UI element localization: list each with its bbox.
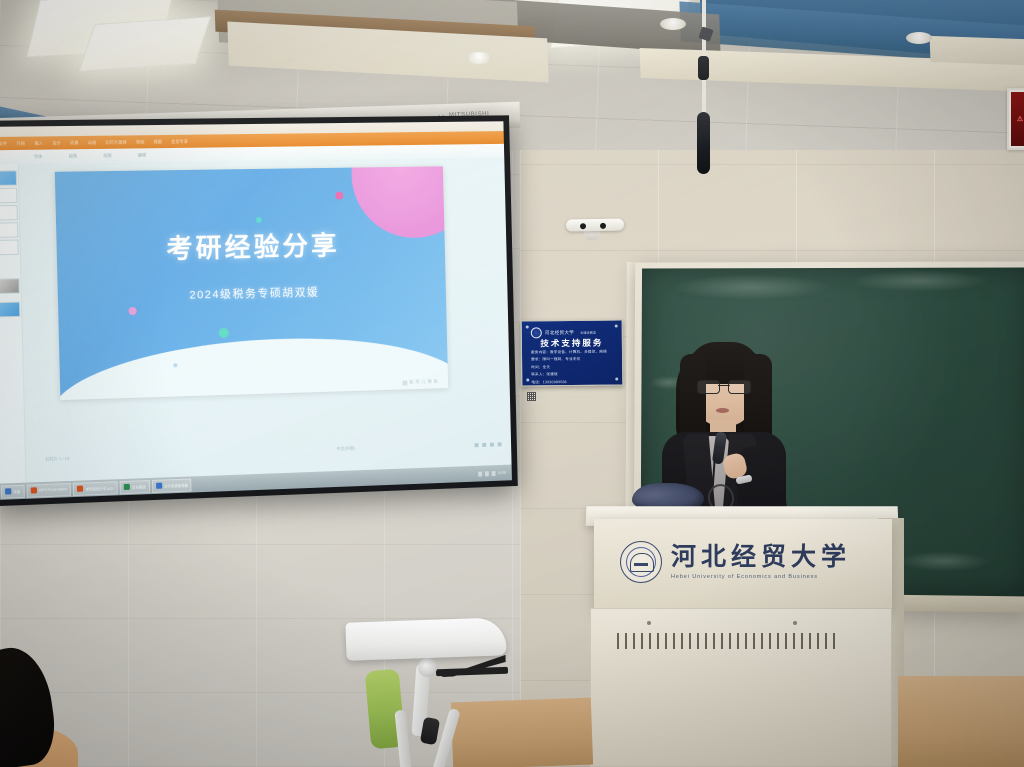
cabinet-vent-slots bbox=[617, 633, 835, 649]
ribbon-item[interactable]: 视图 bbox=[154, 139, 163, 145]
classroom-photo-scene: MITSUBISHI 文件 开始 插入 设计 切换 动画 幻灯片放映 审阅 视图… bbox=[0, 0, 1024, 767]
slideshow-icon[interactable] bbox=[498, 442, 502, 446]
tablet-arm-chair bbox=[336, 612, 522, 767]
ribbon-item[interactable]: 动画 bbox=[88, 139, 97, 145]
dual-lens-camera-icon bbox=[566, 218, 624, 231]
slide-thumbnail-pane[interactable] bbox=[0, 164, 27, 483]
chair-tablet-bracket-bar bbox=[436, 667, 508, 677]
taskbar-item[interactable]: 企业微信 bbox=[120, 480, 150, 494]
chair-leg bbox=[394, 710, 412, 767]
battery-icon[interactable] bbox=[491, 471, 495, 476]
taskbar-label: 开始 bbox=[13, 488, 20, 493]
ribbon-item[interactable]: 插入 bbox=[34, 140, 43, 146]
cabinet-screw bbox=[793, 621, 797, 625]
wooden-desk-edge bbox=[898, 676, 1024, 767]
sign-department: 全媒体教室 bbox=[580, 330, 596, 335]
subbar-item[interactable]: 编辑 bbox=[138, 152, 146, 158]
taskbar-label: 文件资源管理器 bbox=[164, 482, 188, 488]
current-slide[interactable]: 考研经验分享 2024级税务专硕胡双媛 稻 壳 儿 模 板 bbox=[55, 166, 448, 400]
podium-front-panel: 河北经贸大学 Hebei University of Economics and… bbox=[594, 519, 892, 611]
watermark-logo-icon bbox=[403, 380, 408, 385]
app-body: 考研经验分享 2024级税务专硕胡双媛 稻 壳 儿 模 板 幻灯片 1 / 18… bbox=[0, 158, 512, 484]
sign-screw bbox=[526, 378, 529, 381]
ceiling-speaker-icon bbox=[660, 18, 686, 30]
status-view-controls[interactable] bbox=[475, 442, 502, 447]
ceiling-light-panel bbox=[79, 16, 212, 72]
slide-thumbnail[interactable] bbox=[0, 302, 20, 318]
slide-subtitle: 2024级税务专硕胡双媛 bbox=[58, 281, 446, 306]
normal-view-icon[interactable] bbox=[475, 443, 479, 447]
technical-support-sign: 河北经贸大学 全媒体教室 技术支持服务 服务内容：教学设备、计算机、多媒体、网络… bbox=[521, 319, 624, 386]
sign-screw bbox=[526, 325, 529, 328]
status-language: 中文(中国) bbox=[337, 446, 355, 453]
chair-clamp bbox=[420, 717, 440, 745]
sorter-view-icon[interactable] bbox=[482, 443, 486, 447]
status-slide-counter: 幻灯片 1 / 18 bbox=[45, 456, 69, 463]
taskbar-item[interactable]: 考研经验分享.pptx bbox=[73, 481, 118, 496]
start-icon bbox=[5, 488, 11, 494]
camera-lens bbox=[580, 223, 586, 229]
subbar-item[interactable]: 字体 bbox=[34, 154, 42, 160]
subbar-item[interactable]: 绘图 bbox=[103, 153, 111, 159]
slide-decoration-dot bbox=[256, 217, 262, 223]
slide-thumbnail[interactable] bbox=[0, 205, 18, 221]
taskbar-label: WPS Presentation bbox=[39, 487, 67, 492]
cabinet-screw bbox=[647, 621, 651, 625]
subbar-item[interactable]: 段落 bbox=[69, 153, 77, 159]
camera-lens bbox=[600, 222, 606, 228]
ribbon-item[interactable]: 会员专享 bbox=[171, 138, 188, 144]
pptx-file-icon bbox=[77, 486, 83, 492]
ribbon-item[interactable]: 文件 bbox=[0, 140, 7, 146]
slide-watermark: 稻 壳 儿 模 板 bbox=[403, 378, 439, 385]
taskbar-start-button[interactable]: 开始 bbox=[1, 484, 25, 498]
reading-view-icon[interactable] bbox=[490, 443, 494, 447]
wall-qr-code-icon bbox=[527, 392, 536, 401]
slide-decoration-dot bbox=[128, 307, 136, 315]
slide-thumbnail[interactable] bbox=[0, 278, 20, 294]
sign-line: 联系人：张建斌 bbox=[531, 372, 616, 378]
sign-line: 服务内容：教学设备、计算机、多媒体、网络 bbox=[531, 350, 616, 356]
sign-university-name: 河北经贸大学 bbox=[545, 329, 574, 335]
wecom-icon bbox=[124, 484, 130, 490]
slide-decoration-dot bbox=[335, 192, 343, 200]
slide-decoration-dot bbox=[219, 328, 229, 338]
sign-title: 技术支持服务 bbox=[522, 336, 622, 349]
file-explorer-icon bbox=[156, 483, 162, 489]
taskbar-item[interactable]: WPS Presentation bbox=[26, 482, 71, 497]
volume-icon[interactable] bbox=[484, 471, 488, 476]
network-icon[interactable] bbox=[478, 471, 482, 476]
ceiling-soffit bbox=[930, 36, 1024, 66]
slide-title: 考研经验分享 bbox=[56, 223, 445, 268]
ribbon-item[interactable]: 设计 bbox=[52, 140, 61, 146]
emergency-sign-frame: ⚠ bbox=[1007, 88, 1024, 150]
sign-line: 要求：随叫一随到、专业无忧 bbox=[531, 357, 616, 363]
taskbar-clock[interactable]: 14:36 bbox=[498, 471, 509, 475]
ribbon-item[interactable]: 切换 bbox=[70, 140, 79, 146]
taskbar-item[interactable]: 文件资源管理器 bbox=[152, 478, 192, 493]
glasses-lens-right bbox=[728, 380, 751, 394]
ribbon-item[interactable]: 开始 bbox=[16, 140, 25, 146]
hanging-microphone-icon bbox=[697, 112, 710, 174]
podium-university-name-cn: 河北经贸大学 bbox=[671, 545, 851, 570]
projection-screen: 文件 开始 插入 设计 切换 动画 幻灯片放映 审阅 视图 会员专享 字体 段落… bbox=[0, 115, 518, 506]
sign-line: 时间：全天 bbox=[531, 364, 616, 370]
ribbon-item[interactable]: 审阅 bbox=[136, 139, 145, 145]
system-tray[interactable]: 14:36 bbox=[478, 470, 512, 476]
glasses-lens-left bbox=[697, 380, 720, 394]
university-emblem-icon bbox=[620, 541, 662, 583]
ribbon-item[interactable]: 幻灯片放映 bbox=[105, 139, 126, 145]
podium-name-block: 河北经贸大学 Hebei University of Economics and… bbox=[671, 545, 851, 580]
sign-detail-lines: 服务内容：教学设备、计算机、多媒体、网络 要求：随叫一随到、专业无忧 时间：全天… bbox=[531, 350, 616, 387]
chair-adjust-knob bbox=[418, 658, 437, 677]
watermark-text: 稻 壳 儿 模 板 bbox=[409, 378, 438, 385]
wps-presentation-icon bbox=[31, 487, 37, 493]
slide-thumbnail[interactable] bbox=[0, 170, 17, 186]
taskbar-label: 企业微信 bbox=[132, 484, 146, 490]
sign-line: 电话：13930989586 bbox=[531, 379, 616, 385]
ceiling-speaker-icon bbox=[466, 52, 492, 64]
podium-base-cabinet bbox=[590, 608, 892, 767]
podium-logo: 河北经贸大学 Hebei University of Economics and… bbox=[620, 541, 851, 583]
taskbar-label: 考研经验分享.pptx bbox=[86, 485, 114, 491]
ceiling-speaker-icon bbox=[906, 32, 932, 44]
slide-thumbnail[interactable] bbox=[0, 188, 18, 204]
hanging-microphone-joint bbox=[698, 56, 709, 80]
glasses-icon bbox=[697, 380, 751, 392]
slide-thumbnail[interactable] bbox=[0, 240, 19, 256]
presenter-mouth bbox=[716, 408, 729, 413]
podium-university-name-en: Hebei University of Economics and Busine… bbox=[671, 574, 851, 580]
slide-thumbnail[interactable] bbox=[0, 222, 18, 238]
slide-decoration-wave bbox=[55, 327, 448, 400]
emblem-inner-shape bbox=[630, 553, 654, 572]
chair-tablet-surface bbox=[345, 617, 506, 661]
emergency-sign-icon: ⚠ bbox=[1011, 92, 1024, 146]
projected-desktop: 文件 开始 插入 设计 切换 动画 幻灯片放映 审阅 视图 会员专享 字体 段落… bbox=[0, 121, 512, 500]
